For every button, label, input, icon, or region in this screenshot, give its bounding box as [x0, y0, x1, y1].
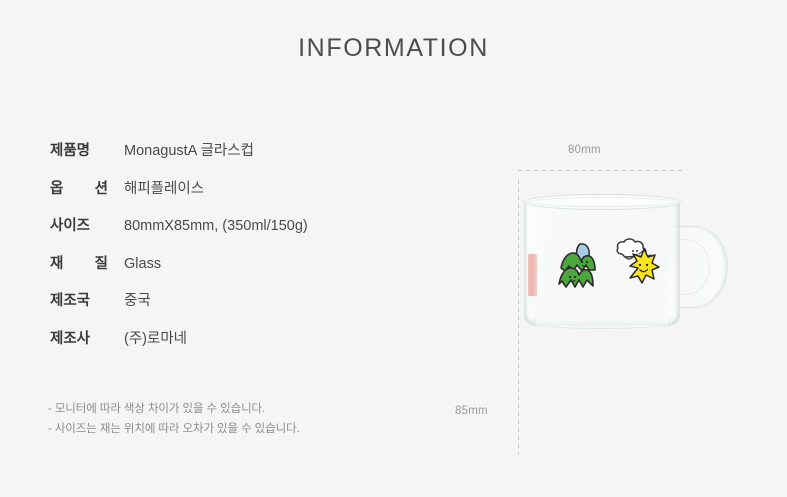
spec-label-material-char-2: 질 [95, 252, 108, 273]
mug-bottom [534, 318, 670, 329]
spec-value-size: 80mmX85mm, (350ml/150g) [124, 218, 308, 234]
mug-rim-inner [530, 197, 674, 207]
dimension-label-height: 85mm [455, 405, 488, 417]
disclaimer-notes: - 모니터에 따라 색상 차이가 있을 수 있습니다. - 사이즈는 재는 위치… [48, 399, 300, 439]
dimension-label-width: 80mm [568, 144, 601, 156]
spec-label-option-char-1: 옵 [50, 177, 63, 198]
spec-value-material: Glass [124, 256, 161, 272]
spec-label-manufacturer: 제조사 [50, 327, 124, 348]
information-page: INFORMATION 제품명 MonagustA 글라스컵 옵 션 해피플레이… [0, 0, 787, 497]
spec-value-country: 중국 [124, 289, 151, 310]
spec-row-product-name: 제품명 MonagustA 글라스컵 [50, 139, 430, 177]
product-image-alt-text: 투명 유리 머그컵 - 해피플레이스 캐릭터 프린트 [450, 130, 451, 131]
dimension-guide-horizontal [518, 170, 686, 171]
specification-list: 제품명 MonagustA 글라스컵 옵 션 해피플레이스 사이즈 80mmX8… [50, 139, 430, 364]
spec-label-material-char-1: 재 [50, 252, 63, 273]
product-image-glass-mug [520, 192, 782, 392]
spec-row-country: 제조국 중국 [50, 289, 430, 327]
page-title: INFORMATION [0, 34, 787, 63]
spec-label-product-name: 제품명 [50, 139, 124, 160]
sun-cloud-character-icon [608, 236, 664, 292]
dimension-guide-vertical [518, 180, 519, 455]
note-color-difference: - 모니터에 따라 색상 차이가 있을 수 있습니다. [48, 399, 300, 419]
spec-row-material: 재 질 Glass [50, 252, 430, 290]
spec-value-option: 해피플레이스 [124, 177, 204, 198]
spec-row-manufacturer: 제조사 (주)로마네 [50, 327, 430, 365]
spec-label-option: 옵 션 [50, 177, 124, 198]
spec-label-country: 제조국 [50, 289, 124, 310]
note-size-tolerance: - 사이즈는 재는 위치에 따라 오차가 있을 수 있습니다. [48, 419, 300, 439]
spec-value-manufacturer: (주)로마네 [124, 327, 187, 348]
spec-row-size: 사이즈 80mmX85mm, (350ml/150g) [50, 214, 430, 252]
spec-label-option-char-2: 션 [95, 177, 108, 198]
spec-row-option: 옵 션 해피플레이스 [50, 177, 430, 215]
pink-stripe-decal [528, 254, 537, 296]
spec-label-material: 재 질 [50, 252, 124, 273]
product-figure: 80mm 85mm [450, 130, 750, 360]
spec-label-size: 사이즈 [50, 214, 124, 235]
green-hills-character-icon [556, 240, 608, 292]
spec-value-product-name: MonagustA 글라스컵 [124, 139, 254, 160]
